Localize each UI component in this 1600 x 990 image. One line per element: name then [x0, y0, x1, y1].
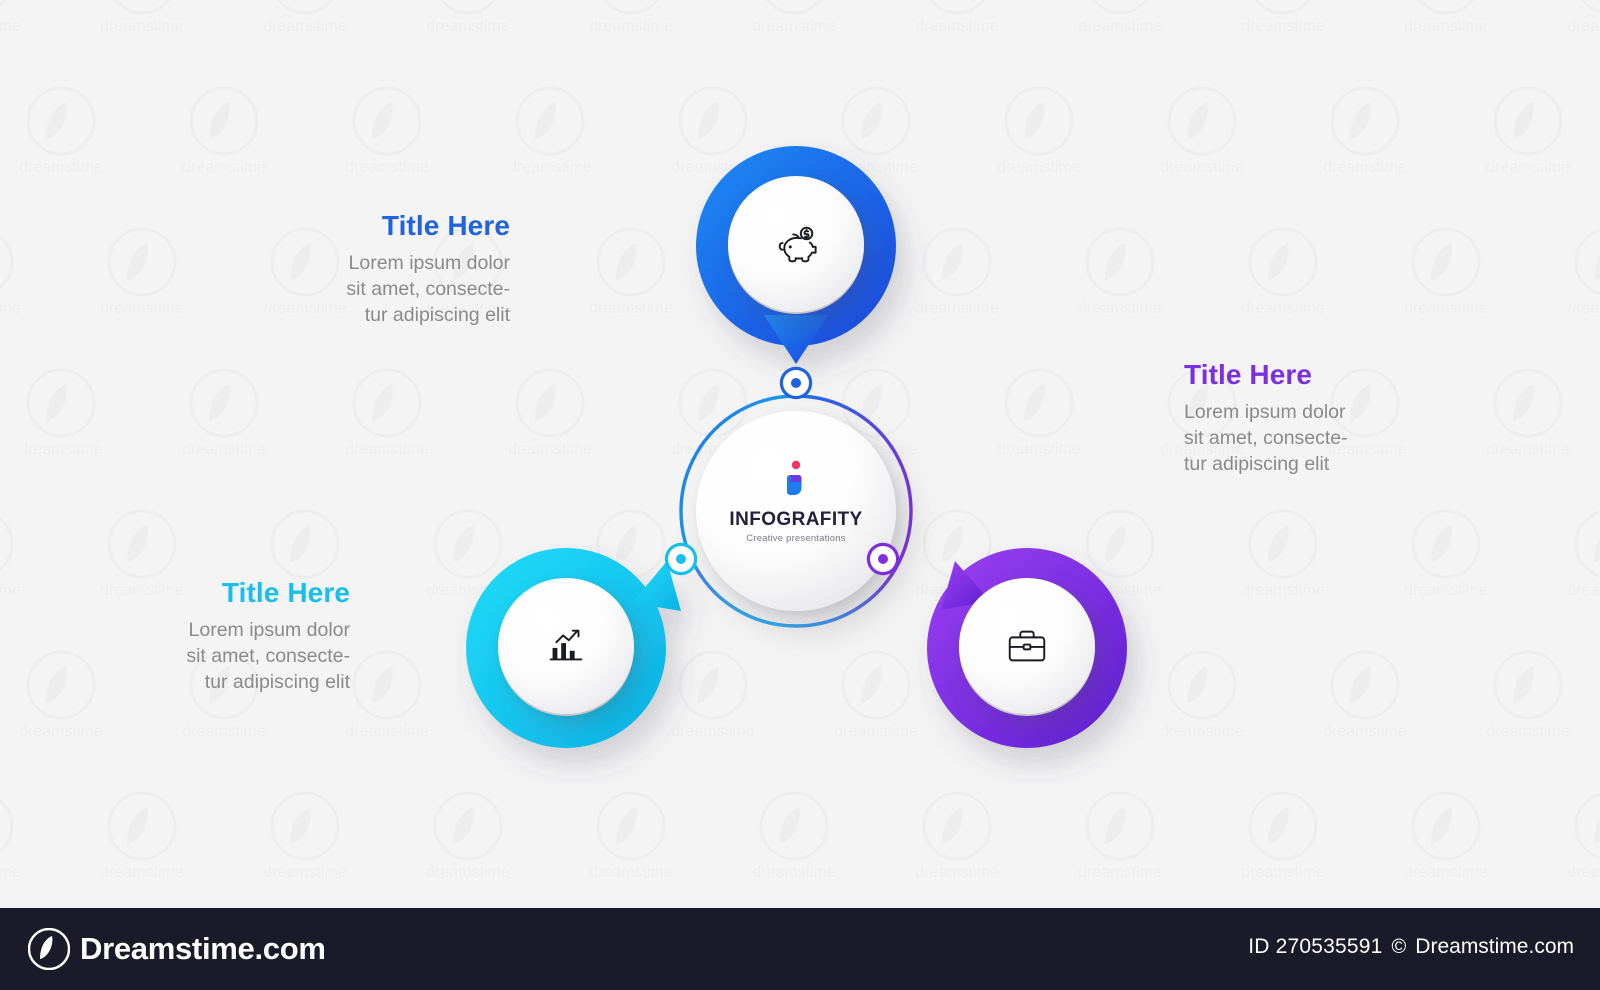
- node-top[interactable]: [696, 146, 896, 346]
- desc-line: sit amet, consecte-: [60, 643, 350, 669]
- hub-logo: INFOGRAFITY Creative presentations: [680, 455, 912, 544]
- text-block-left-title: Title Here: [60, 580, 350, 606]
- desc-line: sit amet, consecte-: [205, 276, 510, 302]
- node-left-sphere: [498, 578, 634, 714]
- connector-dot-right[interactable]: [870, 546, 896, 572]
- infographic-canvas: dreamstimedreamstimedreamstimedreamstime…: [0, 0, 1600, 908]
- connector-dot-top[interactable]: [783, 370, 809, 396]
- desc-line: Lorem ipsum dolor: [205, 250, 510, 276]
- desc-line: Lorem ipsum dolor: [1184, 399, 1434, 425]
- footer-meta: ID 270535591 © Dreamstime.com: [1248, 935, 1574, 959]
- hub-node[interactable]: INFOGRAFITY Creative presentations: [680, 395, 912, 627]
- text-block-right: Title Here Lorem ipsum dolor sit amet, c…: [1184, 362, 1434, 477]
- stock-watermark-footer: Dreamstime.com ID 270535591 © Dreamstime…: [0, 908, 1600, 990]
- copyright-symbol: ©: [1392, 936, 1407, 959]
- hub-brand-name: INFOGRAFITY: [680, 509, 912, 531]
- dreamstime-wordmark: Dreamstime.com: [80, 931, 326, 967]
- desc-line: tur adipiscing elit: [60, 669, 350, 695]
- text-block-left: Title Here Lorem ipsum dolor sit amet, c…: [60, 580, 350, 695]
- text-block-left-desc: Lorem ipsum dolor sit amet, consecte- tu…: [60, 617, 350, 695]
- desc-line: sit amet, consecte-: [1184, 425, 1434, 451]
- text-block-top: Title Here Lorem ipsum dolor sit amet, c…: [205, 213, 510, 328]
- infografity-logo-icon: [680, 455, 912, 505]
- dreamstime-glyph-icon: [28, 928, 70, 970]
- text-block-right-title: Title Here: [1184, 362, 1434, 388]
- growth-chart-icon: [543, 623, 589, 669]
- node-left[interactable]: [466, 548, 666, 748]
- text-block-top-title: Title Here: [205, 213, 510, 239]
- dreamstime-logo[interactable]: Dreamstime.com: [28, 928, 326, 970]
- briefcase-icon: [1004, 623, 1050, 669]
- node-right-sphere: [959, 578, 1095, 714]
- desc-line: tur adipiscing elit: [205, 302, 510, 328]
- copyright-owner: Dreamstime.com: [1415, 935, 1574, 959]
- desc-line: Lorem ipsum dolor: [60, 617, 350, 643]
- image-id: ID 270535591: [1248, 935, 1382, 959]
- connector-dot-left[interactable]: [668, 546, 694, 572]
- node-right[interactable]: [927, 548, 1127, 748]
- node-top-sphere: [728, 176, 864, 312]
- text-block-top-desc: Lorem ipsum dolor sit amet, consecte- tu…: [205, 250, 510, 328]
- hub-tagline: Creative presentations: [680, 533, 912, 544]
- text-block-right-desc: Lorem ipsum dolor sit amet, consecte- tu…: [1184, 399, 1434, 477]
- piggy-bank-icon: [773, 221, 819, 267]
- desc-line: tur adipiscing elit: [1184, 451, 1434, 477]
